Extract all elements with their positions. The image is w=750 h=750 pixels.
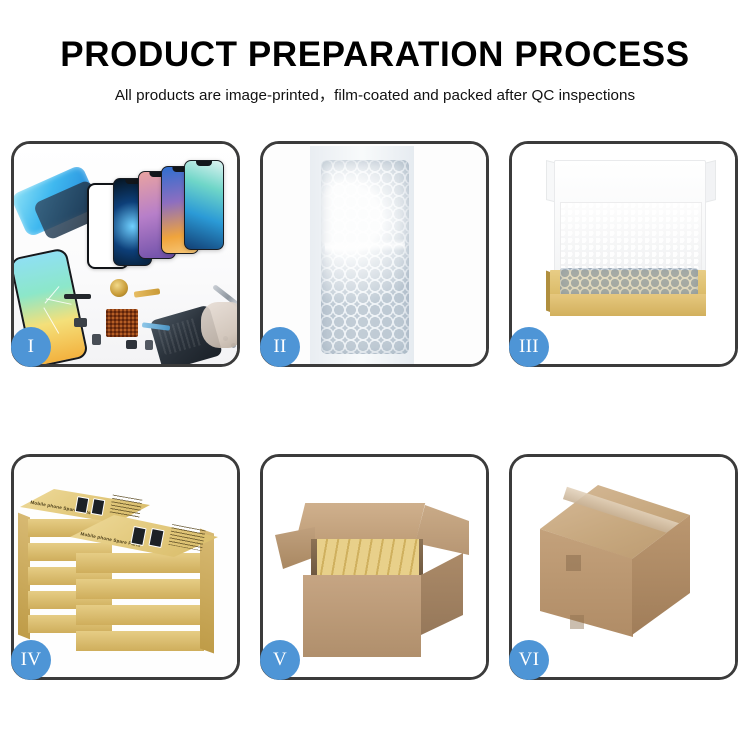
carton-front-face-icon xyxy=(303,575,421,657)
process-step-panel-6: VI xyxy=(509,454,738,680)
page-title: PRODUCT PREPARATION PROCESS xyxy=(0,36,750,74)
chip-icon xyxy=(126,340,137,349)
step-badge-5: V xyxy=(260,640,300,680)
process-step-grid: I II III xyxy=(11,141,739,680)
earpiece-mesh-icon xyxy=(64,294,91,299)
step-6-image xyxy=(512,457,735,677)
bubble-wrap-icon xyxy=(321,160,409,354)
header: PRODUCT PREPARATION PROCESS All products… xyxy=(0,0,750,105)
step-5-image xyxy=(263,457,486,677)
step-4-image: Mobile phone Spare Parts Mobile phone Sp… xyxy=(14,457,237,677)
crack-line-icon xyxy=(46,298,72,304)
step-badge-1: I xyxy=(11,327,51,367)
step-1-image xyxy=(14,144,237,364)
chip-icon xyxy=(92,334,101,345)
process-step-panel-1: I xyxy=(11,141,240,367)
phone-icon-4 xyxy=(184,160,224,250)
crack-line-icon xyxy=(43,307,59,333)
kraft-boxes-inside-icon xyxy=(317,539,419,575)
box-stack-front-icon xyxy=(76,605,204,625)
bubble-wrapped-item-icon xyxy=(560,268,698,296)
carton-patch-icon xyxy=(566,555,581,571)
box-stack-front-icon xyxy=(76,579,204,599)
chip-icon xyxy=(145,340,153,350)
step-3-image xyxy=(512,144,735,364)
step-2-image xyxy=(263,144,486,364)
process-step-panel-4: Mobile phone Spare Parts Mobile phone Sp… xyxy=(11,454,240,680)
connector-grid-icon xyxy=(106,309,138,337)
step-badge-2: II xyxy=(260,327,300,367)
page-subtitle: All products are image-printed，film-coat… xyxy=(0,83,750,105)
process-step-panel-2: II xyxy=(260,141,489,367)
box-stack-front-icon xyxy=(76,631,204,651)
foam-padding-icon xyxy=(560,202,702,274)
chip-icon xyxy=(74,318,87,327)
speaker-coil-icon xyxy=(110,279,128,297)
step-badge-6: VI xyxy=(509,640,549,680)
step-badge-3: III xyxy=(509,327,549,367)
process-step-panel-5: V xyxy=(260,454,489,680)
phone-notch-icon xyxy=(196,161,212,166)
carton-patch-icon xyxy=(570,615,584,629)
process-step-panel-3: III xyxy=(509,141,738,367)
step-badge-4: IV xyxy=(11,640,51,680)
kraft-tray-front-icon xyxy=(550,294,706,316)
product-preparation-infographic: PRODUCT PREPARATION PROCESS All products… xyxy=(0,0,750,750)
hand-icon xyxy=(201,302,237,348)
box-stack-front-icon xyxy=(76,553,204,573)
